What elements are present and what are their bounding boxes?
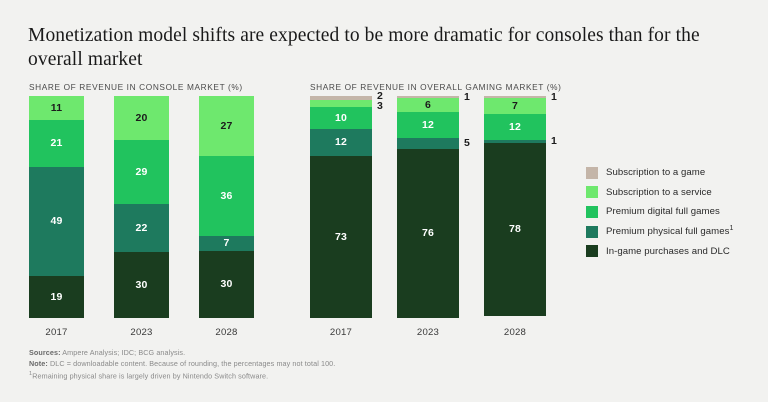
bar-value-label: 27 [220,121,232,132]
bar-group-console-2017: 112149192017 [29,96,84,340]
legend-label-physical: Premium physical full games1 [606,225,733,237]
stacked-bar-console-2028[interactable]: 2736730 [199,96,254,318]
bar-group-overall-2023: 16125762023 [397,96,459,340]
bar-value-label: 76 [422,228,434,239]
bar-value-label: 29 [135,167,147,178]
legend-item-ingame[interactable]: In-game purchases and DLC [586,241,766,261]
footnote-one-text: Remaining physical share is largely driv… [32,372,268,381]
footnote-one: 1Remaining physical share is largely dri… [29,369,549,382]
legend-label-sub_service: Subscription to a service [606,187,712,198]
bar-value-label: 6 [425,100,431,111]
stacked-bar-console-2017[interactable]: 11214919 [29,96,84,318]
bar-value-label: 7 [512,101,518,112]
footnotes: Sources: Ampere Analysis; IDC; BCG analy… [29,348,549,382]
stacked-bar-console-2023[interactable]: 20292230 [114,96,169,318]
legend-footnote-marker: 1 [729,225,733,232]
bar-segment-console-2023-1[interactable]: 20 [114,96,169,140]
legend-item-physical[interactable]: Premium physical full games1 [586,222,766,242]
bar-segment-console-2023-2[interactable]: 29 [114,140,169,204]
bar-value-label: 7 [223,238,229,249]
x-axis-label-console-2028: 2028 [199,327,254,338]
bar-value-label: 5 [464,138,470,149]
bar-segment-console-2017-4[interactable]: 19 [29,276,84,318]
bar-segment-overall-2028-2[interactable]: 12 [484,114,546,141]
bar-value-label: 49 [50,216,62,227]
bar-segment-overall-2028-4[interactable]: 78 [484,143,546,316]
x-axis-label-overall-2023: 2023 [397,327,459,338]
bar-value-label: 1 [464,92,470,103]
bar-value-label: 30 [135,280,147,291]
bar-segment-overall-2017-2[interactable]: 10 [310,107,372,129]
bar-value-label: 12 [509,122,521,133]
legend-swatch-sub_service [586,186,598,198]
sources-label: Sources: [29,348,61,357]
legend-swatch-physical [586,226,598,238]
bar-value-label: 30 [220,279,232,290]
footnote-note: Note: DLC = downloadable content. Becaus… [29,359,549,370]
bar-value-label: 3 [377,101,383,112]
stacked-bar-overall-2023[interactable]: 1612576 [397,96,459,318]
bar-segment-console-2023-4[interactable]: 30 [114,252,169,318]
bar-segment-overall-2023-2[interactable]: 12 [397,112,459,139]
note-text: DLC = downloadable content. Because of r… [48,359,336,368]
bar-value-label: 12 [422,120,434,131]
bar-group-console-2028: 27367302028 [199,96,254,340]
legend-swatch-ingame [586,245,598,257]
bar-value-label: 1 [551,136,557,147]
console-panel-subtitle: SHARE OF REVENUE IN CONSOLE MARKET (%) [29,82,243,92]
overall-panel-subtitle: SHARE OF REVENUE IN OVERALL GAMING MARKE… [310,82,562,92]
stacked-bar-overall-2028[interactable]: 1712178 [484,96,546,318]
bar-segment-overall-2023-4[interactable]: 76 [397,149,459,318]
x-axis-label-overall-2017: 2017 [310,327,372,338]
bar-segment-console-2017-1[interactable]: 11 [29,96,84,120]
bar-segment-overall-2023-1[interactable]: 6 [397,98,459,111]
bar-segment-overall-2017-4[interactable]: 73 [310,156,372,318]
bar-value-label: 78 [509,224,521,235]
bar-value-label: 19 [50,292,62,303]
x-axis-label-console-2023: 2023 [114,327,169,338]
bar-segment-overall-2017-3[interactable]: 12 [310,129,372,156]
bar-segment-console-2028-2[interactable]: 36 [199,156,254,236]
bar-value-label: 11 [51,103,63,114]
legend-item-sub_service[interactable]: Subscription to a service [586,183,766,203]
bar-value-label: 73 [335,232,347,243]
bar-segment-console-2028-3[interactable]: 7 [199,236,254,252]
bar-value-label: 22 [135,223,147,234]
note-label: Note: [29,359,48,368]
bar-segment-console-2028-1[interactable]: 27 [199,96,254,156]
sources-text: Ampere Analysis; IDC; BCG analysis. [61,348,186,357]
x-axis-label-console-2017: 2017 [29,327,84,338]
bar-segment-console-2017-2[interactable]: 21 [29,120,84,167]
bar-segment-overall-2028-1[interactable]: 7 [484,98,546,114]
bar-value-label: 12 [335,137,347,148]
stacked-bar-overall-2017[interactable]: 23101273 [310,96,372,318]
bar-segment-console-2023-3[interactable]: 22 [114,204,169,252]
bar-value-label: 21 [50,138,62,149]
bar-segment-console-2017-3[interactable]: 49 [29,167,84,276]
legend-swatch-digital [586,206,598,218]
footnote-sources: Sources: Ampere Analysis; IDC; BCG analy… [29,348,549,359]
legend-label-sub_game: Subscription to a game [606,167,705,178]
bar-value-label: 36 [220,191,232,202]
legend-label-ingame: In-game purchases and DLC [606,246,730,257]
bar-value-label: 10 [335,113,347,124]
page-title: Monetization model shifts are expected t… [28,24,728,72]
bar-segment-overall-2017-1[interactable]: 3 [310,100,372,107]
chart-legend: Subscription to a gameSubscription to a … [586,163,766,261]
legend-item-sub_game[interactable]: Subscription to a game [586,163,766,183]
bar-segment-console-2028-4[interactable]: 30 [199,251,254,318]
bar-value-label: 1 [551,92,557,103]
bar-value-label: 20 [135,113,147,124]
bar-group-overall-2028: 17121782028 [484,96,546,340]
legend-label-digital: Premium digital full games [606,206,720,217]
legend-swatch-sub_game [586,167,598,179]
legend-item-digital[interactable]: Premium digital full games [586,202,766,222]
x-axis-label-overall-2028: 2028 [484,327,546,338]
bar-segment-overall-2023-3[interactable]: 5 [397,138,459,149]
bar-group-console-2023: 202922302023 [114,96,169,340]
bar-group-overall-2017: 231012732017 [310,96,372,340]
